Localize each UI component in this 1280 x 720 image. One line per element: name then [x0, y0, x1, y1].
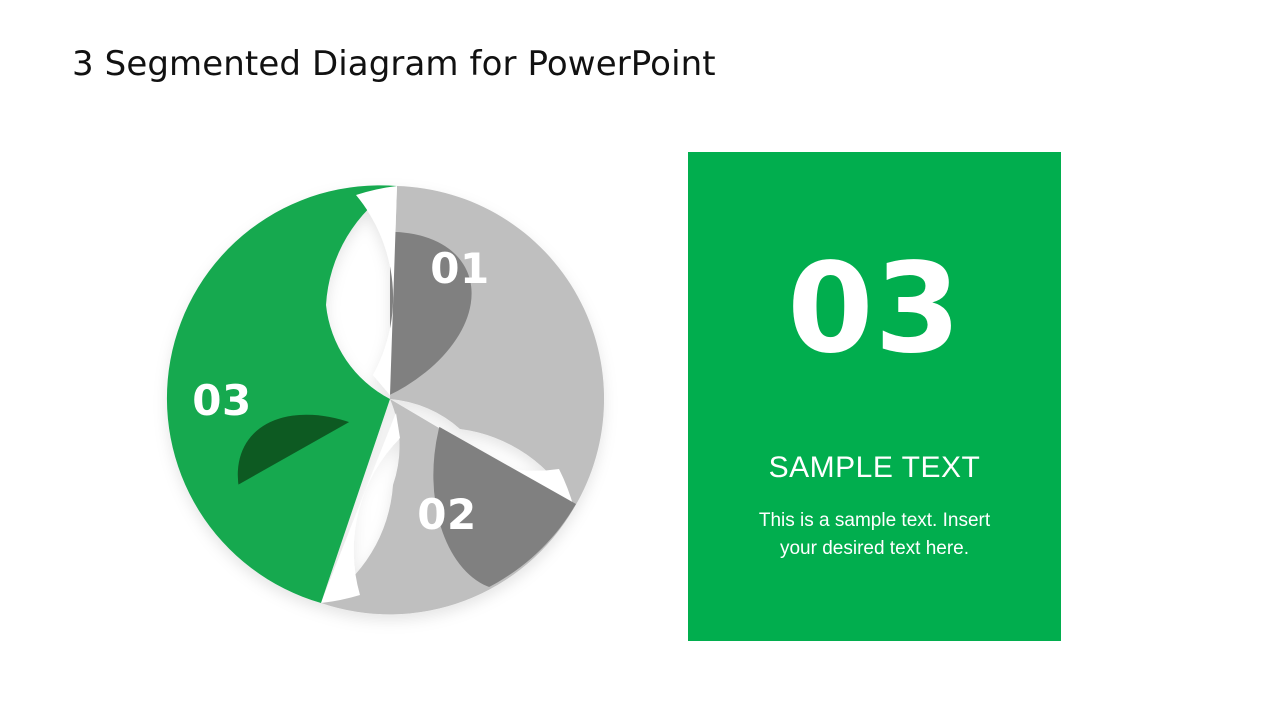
detail-panel-body: This is a sample text. Insert your desir… — [745, 507, 1005, 563]
page-title: 3 Segmented Diagram for PowerPoint — [72, 44, 716, 84]
segmented-diagram: 01 02 03 — [160, 163, 620, 635]
detail-panel-number: 03 — [787, 247, 962, 371]
detail-panel[interactable]: 03 SAMPLE TEXT This is a sample text. In… — [688, 152, 1061, 641]
slide-canvas: { "slide": { "title": "3 Segmented Diagr… — [0, 0, 1280, 720]
segmented-diagram-svg: 01 02 03 — [160, 163, 620, 635]
segment-02-label: 02 — [417, 490, 476, 539]
detail-panel-heading: SAMPLE TEXT — [769, 451, 981, 485]
segment-01-label: 01 — [430, 244, 489, 293]
segment-03-label: 03 — [192, 376, 251, 425]
